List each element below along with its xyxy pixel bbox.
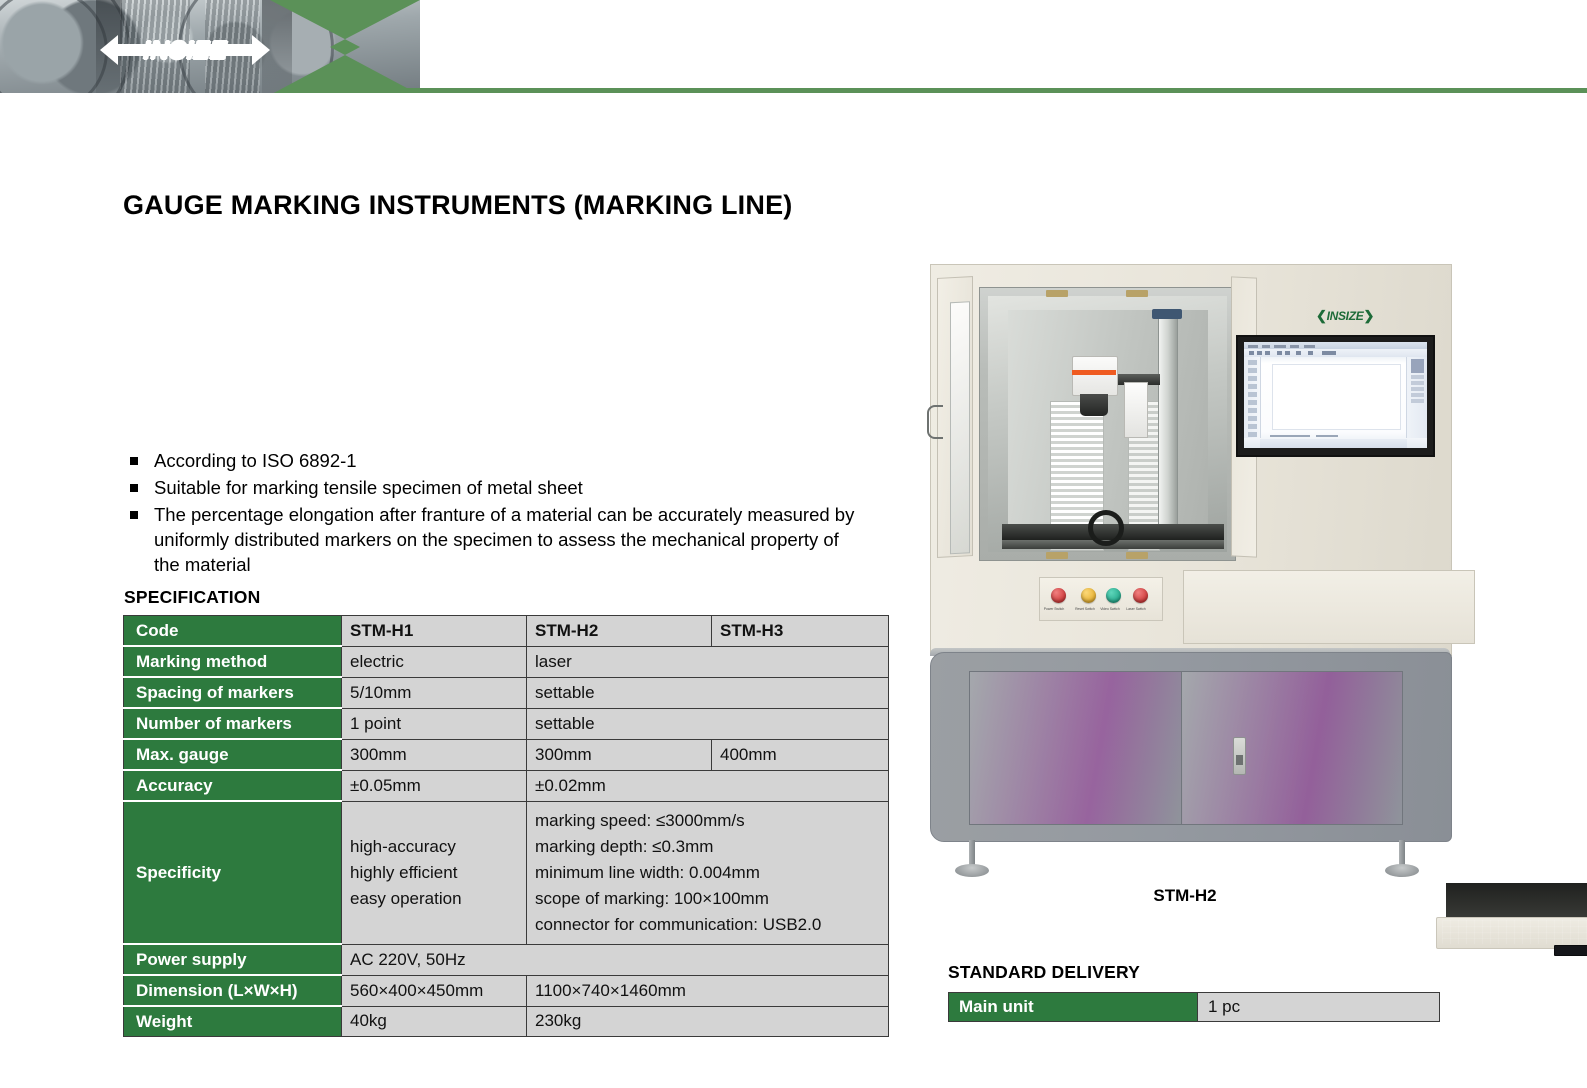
specification-table: CodeSTM-H1STM-H2STM-H3Marking methodelec… bbox=[123, 615, 889, 1037]
table-row: Specificityhigh-accuracyhighly efficient… bbox=[124, 801, 889, 944]
table-row: Main unit1 pc bbox=[949, 993, 1440, 1022]
spec-cell: high-accuracyhighly efficienteasy operat… bbox=[342, 801, 527, 944]
spec-cell: 1100×740×1460mm bbox=[527, 975, 889, 1006]
hinge bbox=[1046, 552, 1068, 559]
gear-shape bbox=[0, 0, 108, 95]
logo-arrow-left-icon: ❮ bbox=[1316, 308, 1327, 324]
machine-chamber bbox=[979, 287, 1236, 561]
table-row: Marking methodelectriclaser bbox=[124, 646, 889, 677]
list-item: Suitable for marking tensile specimen of… bbox=[126, 475, 856, 500]
hinge bbox=[1126, 290, 1148, 297]
standard-delivery-table: Main unit1 pc bbox=[948, 992, 1440, 1022]
spec-cell: electric bbox=[342, 646, 527, 677]
table-row: Accuracy±0.05mm±0.02mm bbox=[124, 770, 889, 801]
laser-head-stripe bbox=[1072, 370, 1116, 375]
screen-menubar bbox=[1244, 342, 1427, 349]
spec-cell: AC 220V, 50Hz bbox=[342, 944, 889, 975]
spec-cell: laser bbox=[527, 646, 889, 677]
table-row: CodeSTM-H1STM-H2STM-H3 bbox=[124, 616, 889, 647]
rail-cap bbox=[1152, 309, 1182, 319]
door-handle-left[interactable] bbox=[927, 405, 943, 439]
bullet-square-icon bbox=[130, 457, 138, 465]
machine-logo-text: INSIZE bbox=[1327, 309, 1364, 323]
laser-lens bbox=[1080, 394, 1108, 416]
screen-left-toolbar bbox=[1244, 357, 1261, 438]
spec-cell: 300mm bbox=[342, 739, 527, 770]
page-title: GAUGE MARKING INSTRUMENTS (MARKING LINE) bbox=[123, 190, 792, 221]
monitor-screen bbox=[1244, 342, 1427, 448]
laser-head bbox=[1072, 356, 1118, 396]
cabinet-door-right[interactable] bbox=[1181, 671, 1403, 825]
video-switch-label: Video Switch bbox=[1098, 607, 1122, 611]
product-image-stm-h2: ❮ INSIZE ❯ bbox=[905, 252, 1465, 892]
spec-cell: STM-H3 bbox=[712, 616, 889, 647]
standard-delivery-heading: STANDARD DELIVERY bbox=[948, 962, 1140, 983]
spec-row-label: Accuracy bbox=[124, 770, 342, 801]
spec-row-label: Code bbox=[124, 616, 342, 647]
list-item: According to ISO 6892-1 bbox=[126, 448, 856, 473]
reset-switch-label: Reset Switch bbox=[1073, 607, 1097, 611]
video-switch-button[interactable] bbox=[1106, 588, 1121, 603]
spec-cell: settable bbox=[527, 677, 889, 708]
screen-right-panel bbox=[1406, 357, 1427, 438]
machine-upper-body: ❮ INSIZE ❯ bbox=[930, 264, 1452, 656]
vertical-rail bbox=[1158, 316, 1178, 548]
product-figure: ❮ INSIZE ❯ bbox=[905, 252, 1465, 912]
product-caption: STM-H2 bbox=[905, 886, 1465, 906]
laser-carriage bbox=[1124, 382, 1148, 438]
spec-row-label: Power supply bbox=[124, 944, 342, 975]
spec-cell: settable bbox=[527, 708, 889, 739]
spec-cell: 1 point bbox=[342, 708, 527, 739]
table-row: Number of markers1 pointsettable bbox=[124, 708, 889, 739]
specification-heading: SPECIFICATION bbox=[124, 587, 260, 608]
table-row: Weight40kg230kg bbox=[124, 1006, 889, 1037]
table-row: Spacing of markers5/10mmsettable bbox=[124, 677, 889, 708]
machine-insize-logo: ❮ INSIZE ❯ bbox=[1299, 307, 1391, 324]
reset-switch-button[interactable] bbox=[1081, 588, 1096, 603]
spec-cell: marking speed: ≤3000mm/smarking depth: ≤… bbox=[527, 801, 889, 944]
chamber-interior bbox=[988, 296, 1227, 552]
bullet-square-icon bbox=[130, 484, 138, 492]
hinge bbox=[1126, 552, 1148, 559]
power-switch-button[interactable] bbox=[1051, 588, 1066, 603]
feature-list: According to ISO 6892-1 Suitable for mar… bbox=[126, 448, 856, 579]
power-switch-label: Power Switch bbox=[1042, 607, 1066, 611]
coiled-cable bbox=[1088, 510, 1124, 546]
tray-recess bbox=[1446, 883, 1587, 921]
cabinet-door-left[interactable] bbox=[969, 671, 1183, 825]
spec-row-label: Number of markers bbox=[124, 708, 342, 739]
bullet-square-icon bbox=[130, 511, 138, 519]
spec-cell: 230kg bbox=[527, 1006, 889, 1037]
spec-cell: 400mm bbox=[712, 739, 889, 770]
list-item: The percentage elongation after franture… bbox=[126, 502, 856, 577]
spec-row-label: Spacing of markers bbox=[124, 677, 342, 708]
logo-arrow-right-icon: ❯ bbox=[1363, 308, 1374, 324]
keyboard-tray bbox=[1183, 570, 1475, 644]
cabinet-latch-handle[interactable] bbox=[1233, 737, 1246, 775]
spec-cell: 300mm bbox=[527, 739, 712, 770]
leveling-foot bbox=[1385, 864, 1419, 877]
chamber-back-wall bbox=[1008, 310, 1208, 538]
page-header: INSIZE bbox=[0, 0, 1587, 95]
drawer-slot bbox=[1554, 945, 1587, 956]
table-row: Max. gauge300mm300mm400mm bbox=[124, 739, 889, 770]
keyboard[interactable] bbox=[1442, 920, 1587, 944]
machine-monitor[interactable] bbox=[1236, 335, 1435, 457]
leveling-foot bbox=[955, 864, 989, 877]
feature-text: The percentage elongation after franture… bbox=[154, 504, 854, 575]
spec-row-label: Dimension (L×W×H) bbox=[124, 975, 342, 1006]
table-row: Dimension (L×W×H)560×400×450mm1100×740×1… bbox=[124, 975, 889, 1006]
spec-row-label: Weight bbox=[124, 1006, 342, 1037]
spec-cell: STM-H1 bbox=[342, 616, 527, 647]
spec-cell: ±0.02mm bbox=[527, 770, 889, 801]
laser-switch-button[interactable] bbox=[1133, 588, 1148, 603]
spec-cell: 560×400×450mm bbox=[342, 975, 527, 1006]
spec-cell: 40kg bbox=[342, 1006, 527, 1037]
feature-text: According to ISO 6892-1 bbox=[154, 450, 357, 471]
screen-statusbar bbox=[1260, 439, 1407, 448]
spec-cell: 5/10mm bbox=[342, 677, 527, 708]
leveling-leg bbox=[1399, 840, 1405, 866]
leveling-leg bbox=[969, 840, 975, 866]
screen-canvas bbox=[1272, 364, 1401, 430]
hinge bbox=[1046, 290, 1068, 297]
table-row: Power supplyAC 220V, 50Hz bbox=[124, 944, 889, 975]
feature-text: Suitable for marking tensile specimen of… bbox=[154, 477, 583, 498]
laser-switch-label: Laser Switch bbox=[1124, 607, 1148, 611]
header-white-separator bbox=[0, 93, 1587, 95]
spec-row-label: Marking method bbox=[124, 646, 342, 677]
delivery-item-qty: 1 pc bbox=[1198, 993, 1440, 1022]
spec-cell: STM-H2 bbox=[527, 616, 712, 647]
spec-cell: ±0.05mm bbox=[342, 770, 527, 801]
delivery-item-label: Main unit bbox=[949, 993, 1198, 1022]
spec-row-label: Specificity bbox=[124, 801, 342, 944]
control-button-panel: Power Switch Reset Switch Video Switch L… bbox=[1039, 577, 1163, 621]
machine-lower-cabinet bbox=[930, 652, 1452, 842]
door-glass bbox=[950, 301, 970, 554]
spec-row-label: Max. gauge bbox=[124, 739, 342, 770]
